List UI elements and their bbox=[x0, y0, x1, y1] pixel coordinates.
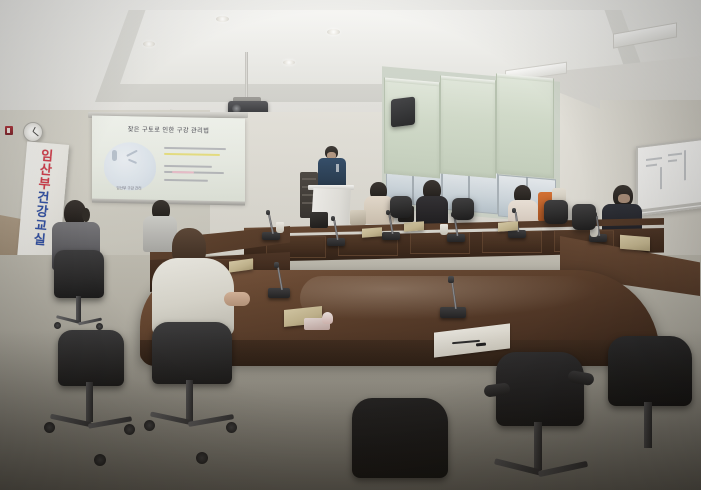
office-chair-back[interactable] bbox=[54, 250, 104, 298]
conference-room-photo: 잦은 구토로 인한 구강 관리법 임산부 구강 관리 임 산 부 건 강 교 실 bbox=[0, 0, 701, 490]
chair-wheel bbox=[96, 323, 103, 330]
paper-cup bbox=[276, 222, 284, 233]
recessed-downlight bbox=[216, 16, 229, 22]
slide-bullet-line-highlighted bbox=[164, 153, 220, 156]
recessed-downlight bbox=[327, 29, 340, 35]
chair-post bbox=[76, 296, 81, 322]
slide-figure-caption: 임산부 구강 관리 bbox=[106, 186, 152, 192]
presenter-lanyard bbox=[336, 164, 339, 172]
gooseneck-microphone[interactable] bbox=[440, 307, 466, 318]
office-chair-back[interactable] bbox=[572, 204, 596, 230]
slide-bullet-line bbox=[164, 179, 208, 182]
window-blind[interactable] bbox=[384, 78, 440, 179]
window-blind[interactable] bbox=[440, 76, 496, 179]
handbag bbox=[350, 210, 366, 225]
floor-shadow bbox=[0, 330, 701, 490]
window-blind[interactable] bbox=[496, 73, 554, 178]
attendee-hair-tie bbox=[82, 208, 90, 222]
slide-bullet-line-highlighted bbox=[172, 171, 194, 174]
attendee-arm bbox=[224, 292, 250, 306]
projection-screen: 잦은 구토로 인한 구강 관리법 임산부 구강 관리 bbox=[92, 116, 245, 205]
gooseneck-microphone[interactable] bbox=[268, 288, 290, 298]
handbag bbox=[310, 212, 328, 228]
slide-bullet-line bbox=[164, 147, 226, 150]
tissue-box bbox=[404, 221, 424, 231]
office-chair-back[interactable] bbox=[390, 196, 412, 218]
wall-clock bbox=[23, 122, 43, 142]
slide-title: 잦은 구토로 인한 구강 관리법 bbox=[102, 124, 235, 136]
tissue-box bbox=[362, 227, 382, 237]
attendee-face bbox=[618, 194, 630, 203]
recessed-downlight bbox=[143, 41, 155, 47]
tissue-box bbox=[498, 221, 518, 231]
wall-speaker bbox=[391, 97, 415, 128]
slide-illustration bbox=[104, 142, 156, 191]
tissue-box bbox=[620, 235, 650, 252]
office-chair-back[interactable] bbox=[452, 198, 474, 220]
fire-alarm-button[interactable] bbox=[7, 128, 10, 133]
office-chair-back[interactable] bbox=[544, 200, 568, 224]
small-item bbox=[322, 312, 333, 324]
chair-wheel bbox=[54, 322, 61, 329]
projector-mount-pole bbox=[245, 52, 248, 100]
paper-cup bbox=[440, 224, 448, 235]
slide-bullet-line bbox=[164, 165, 212, 168]
recessed-downlight bbox=[283, 60, 295, 65]
